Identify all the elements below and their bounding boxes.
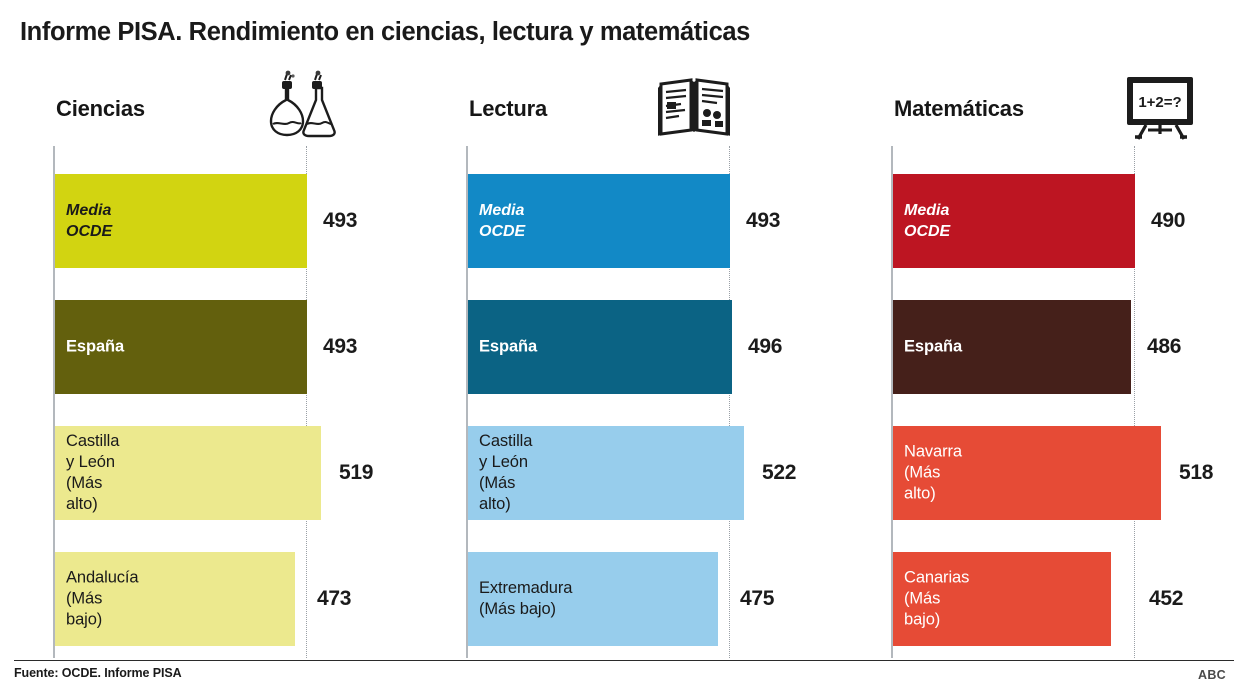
bar-label: España [904,337,962,358]
bar-label: Andalucía (Más bajo) [66,568,139,631]
bar-label: Media OCDE [904,200,950,242]
bar-label: Canarias (Más bajo) [904,568,969,631]
bar-label: España [479,337,537,358]
panel-header-ciencias: Ciencias [42,70,422,142]
bar-label: Castilla y León (Más alto) [66,431,119,515]
panel-header-lectura: Lectura [455,70,835,142]
footer-divider [14,660,1234,661]
panel-matematicas: Matemáticas 1+2=? Media OCDE [880,70,1248,658]
bar-label: Navarra (Más alto) [904,442,962,505]
bar-value: 493 [323,209,357,233]
panel-header-matematicas: Matemáticas 1+2=? [880,70,1248,142]
bar-value: 493 [746,209,780,233]
bar-label: Media OCDE [66,200,112,242]
bar-value: 473 [317,587,351,611]
bar-value: 490 [1151,209,1185,233]
bar-label: Media OCDE [479,200,525,242]
footer-source: Fuente: OCDE. Informe PISA [14,666,182,680]
page-title: Informe PISA. Rendimiento en ciencias, l… [20,18,750,47]
bar-value: 496 [748,335,782,359]
bar-value: 452 [1149,587,1183,611]
bar-value: 493 [323,335,357,359]
flasks-icon [264,70,342,140]
bar-label: Castilla y León (Más alto) [479,431,532,515]
chart-matematicas: Media OCDE 490 España 486 Navarra (Más a… [880,146,1248,658]
blackboard-math-icon: 1+2=? [1122,72,1200,142]
footer-brand: ABC [1198,668,1226,682]
panel-lectura: Lectura [455,70,835,658]
bar-value: 522 [762,461,796,485]
bar-value: 519 [339,461,373,485]
bar-value: 475 [740,587,774,611]
open-book-icon [655,76,733,146]
bar-label: Extremadura (Más bajo) [479,578,572,620]
panel-title-lectura: Lectura [469,96,547,122]
bar-label: España [66,337,124,358]
bar-value: 518 [1179,461,1213,485]
infographic-root: Informe PISA. Rendimiento en ciencias, l… [0,0,1248,698]
bar-value: 486 [1147,335,1181,359]
panel-ciencias: Ciencias [42,70,422,658]
panel-title-matematicas: Matemáticas [894,96,1024,122]
blackboard-text: 1+2=? [1138,94,1181,111]
chart-ciencias: Media OCDE 493 España 493 Castilla y Leó… [42,146,422,658]
panel-title-ciencias: Ciencias [56,96,145,122]
chart-lectura: Media OCDE 493 España 496 Castilla y Leó… [455,146,835,658]
